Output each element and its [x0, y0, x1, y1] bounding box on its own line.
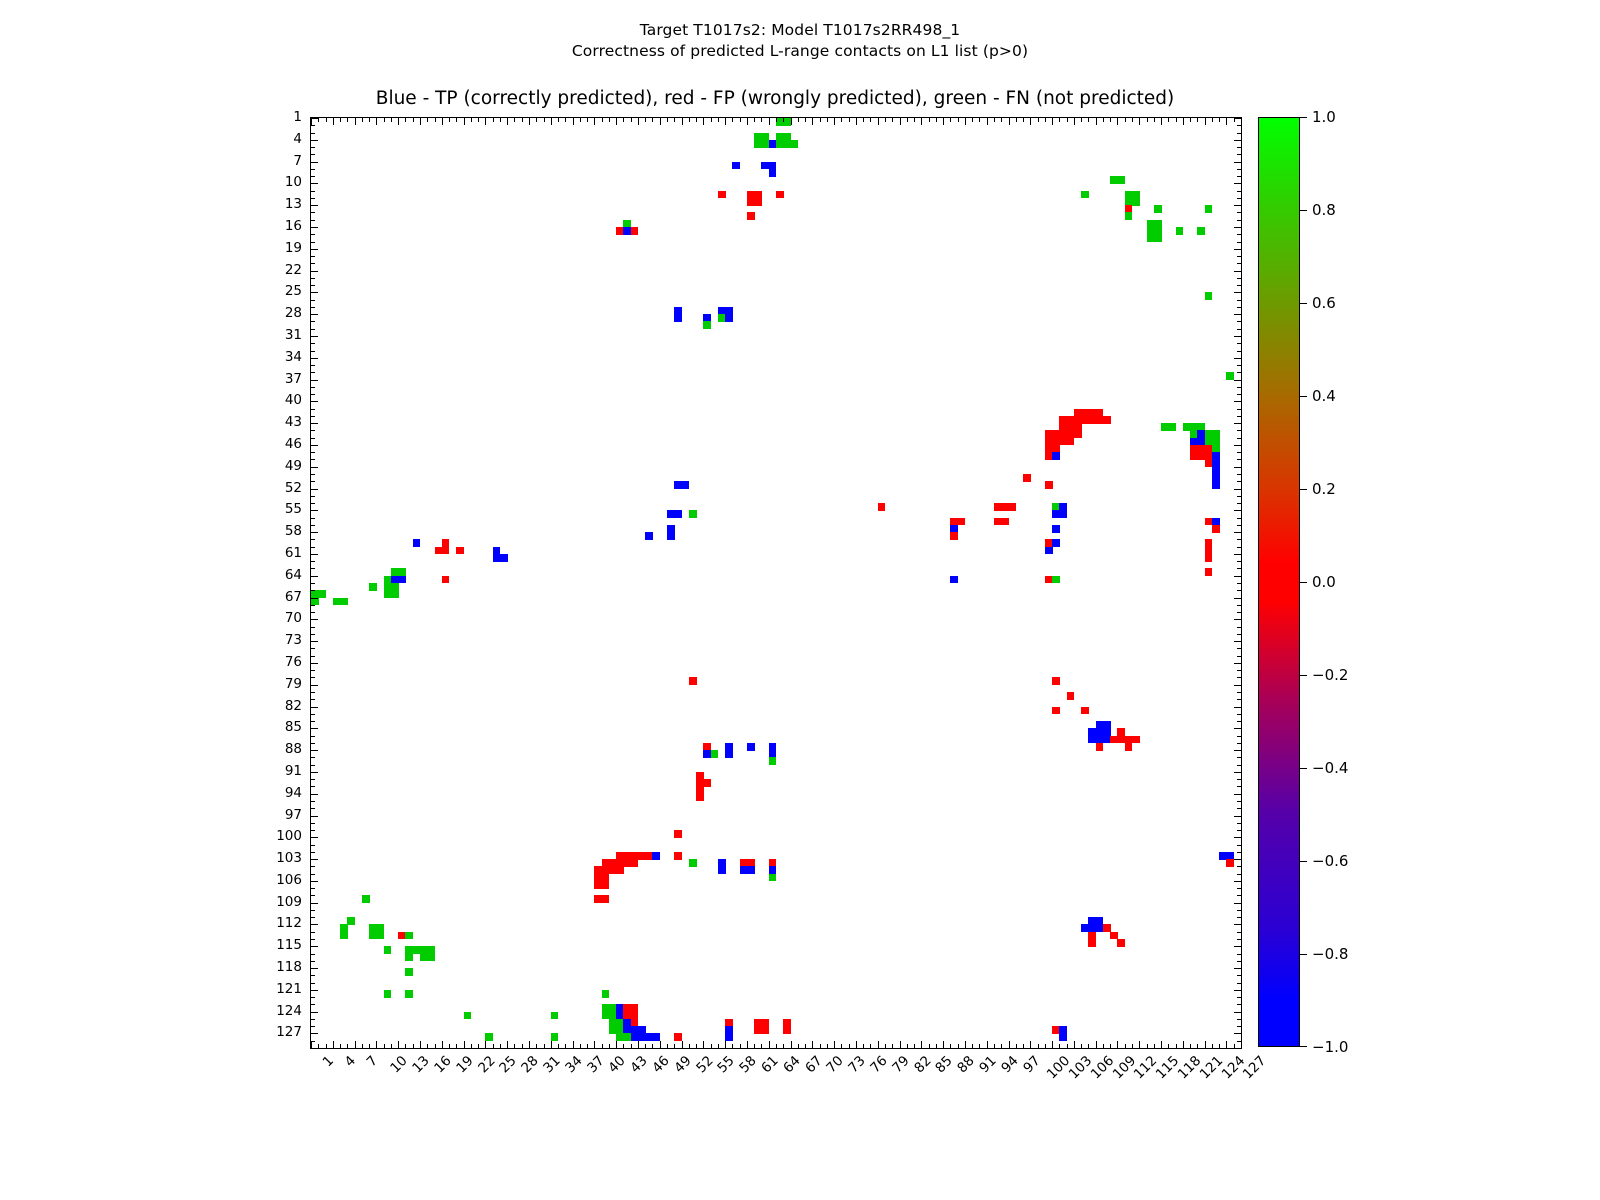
x-tick-top — [652, 118, 653, 122]
contact-cell-fn — [318, 590, 326, 598]
y-tick-right — [1237, 198, 1241, 199]
x-tick — [1117, 1041, 1118, 1048]
x-tick-top — [355, 118, 356, 125]
x-tick-top — [326, 118, 327, 122]
x-tick — [340, 1044, 341, 1048]
x-tick-top — [740, 118, 741, 122]
y-tick — [311, 205, 318, 206]
colorbar-tick — [1300, 675, 1307, 676]
colorbar-tick — [1300, 582, 1307, 583]
x-tick-label: 73 — [845, 1053, 868, 1076]
x-tick — [994, 1044, 995, 1048]
colorbar-tick — [1300, 768, 1307, 769]
contact-cell-fn — [689, 859, 697, 867]
x-tick — [936, 1044, 937, 1048]
y-tick-label: 7 — [293, 153, 302, 169]
contact-cell-fp — [1045, 481, 1053, 489]
y-tick — [311, 888, 315, 889]
title-line-1: Target T1017s2: Model T1017s2RR498_1 — [0, 20, 1600, 41]
y-tick — [311, 271, 318, 272]
x-tick — [972, 1044, 973, 1048]
x-tick-top — [478, 118, 479, 122]
y-tick-right — [1237, 409, 1241, 410]
x-tick — [827, 1044, 828, 1048]
y-tick — [311, 895, 315, 896]
x-tick-top — [1147, 118, 1148, 122]
y-tick-right — [1237, 779, 1241, 780]
x-tick-top — [551, 118, 552, 125]
x-tick — [507, 1041, 508, 1048]
y-tick-right — [1234, 837, 1241, 838]
y-tick-right — [1237, 1019, 1241, 1020]
y-tick-right — [1234, 598, 1241, 599]
y-tick — [311, 845, 315, 846]
y-tick-right — [1234, 794, 1241, 795]
y-tick-right — [1237, 242, 1241, 243]
x-tick — [841, 1044, 842, 1048]
x-tick-top — [602, 118, 603, 122]
x-tick-top — [427, 118, 428, 122]
contact-map-plot[interactable] — [310, 117, 1242, 1049]
y-tick-right — [1237, 852, 1241, 853]
x-tick-top — [936, 118, 937, 122]
y-tick — [311, 961, 315, 962]
x-tick — [1190, 1044, 1191, 1048]
x-tick-top — [507, 118, 508, 125]
x-tick — [1023, 1044, 1024, 1048]
x-tick-label: 88 — [954, 1053, 977, 1076]
colorbar-tick-label: −1.0 — [1312, 1038, 1348, 1056]
contact-cell-fn — [340, 598, 348, 606]
contact-cell-fp — [1205, 568, 1213, 576]
colorbar-tick-label: −0.4 — [1312, 759, 1348, 777]
y-tick-right — [1234, 249, 1241, 250]
contact-cell-fp — [456, 547, 464, 555]
x-tick-top — [485, 118, 486, 125]
y-tick — [311, 387, 315, 388]
y-tick-label: 37 — [285, 371, 302, 387]
y-tick — [311, 699, 315, 700]
x-tick-top — [1023, 118, 1024, 122]
x-tick-label: 13 — [409, 1053, 432, 1076]
y-tick-right — [1237, 605, 1241, 606]
x-tick — [573, 1041, 574, 1048]
y-tick-right — [1237, 910, 1241, 911]
y-tick-right — [1234, 380, 1241, 381]
x-tick — [602, 1044, 603, 1048]
x-tick-top — [972, 118, 973, 122]
y-tick-right — [1237, 677, 1241, 678]
y-tick — [311, 380, 318, 381]
contact-cell-tp — [1059, 1033, 1067, 1041]
y-tick-label: 28 — [285, 305, 302, 321]
y-tick-right — [1234, 162, 1241, 163]
y-tick — [311, 852, 315, 853]
y-tick — [311, 561, 315, 562]
y-tick-right — [1237, 895, 1241, 896]
y-tick-right — [1234, 401, 1241, 402]
y-tick — [311, 874, 315, 875]
y-tick — [311, 510, 318, 511]
y-tick-label: 46 — [285, 436, 302, 452]
y-tick-right — [1237, 612, 1241, 613]
contact-cell-fn — [1205, 205, 1213, 213]
x-tick-top — [1103, 118, 1104, 122]
x-tick — [1161, 1041, 1162, 1048]
x-tick — [1197, 1044, 1198, 1048]
contact-cell-tp — [950, 576, 958, 584]
y-tick-right — [1237, 808, 1241, 809]
y-tick-right — [1234, 118, 1241, 119]
contact-cell-fn — [1132, 198, 1140, 206]
x-tick — [1176, 1044, 1177, 1048]
y-tick-label: 121 — [276, 981, 302, 997]
y-tick — [311, 707, 318, 708]
x-tick-top — [776, 118, 777, 122]
y-tick — [311, 133, 315, 134]
colorbar-tick — [1300, 1046, 1307, 1047]
y-tick-right — [1234, 903, 1241, 904]
y-tick — [311, 278, 315, 279]
y-tick-right — [1237, 125, 1241, 126]
contact-cell-fp — [1052, 707, 1060, 715]
y-tick-right — [1237, 474, 1241, 475]
y-tick-right — [1237, 234, 1241, 235]
contact-cell-tp — [732, 162, 740, 170]
contact-cell-fp — [783, 1026, 791, 1034]
y-tick-label: 49 — [285, 458, 302, 474]
y-tick — [311, 917, 315, 918]
x-tick — [1038, 1044, 1039, 1048]
y-axis-labels: 1471013161922252831343740434649525558616… — [240, 117, 302, 1047]
contact-cell-fp — [1052, 677, 1060, 685]
x-tick — [311, 1041, 312, 1048]
x-tick-top — [950, 118, 951, 122]
colorbar-tick — [1300, 396, 1307, 397]
x-tick-top — [958, 118, 959, 122]
contact-cell-fp — [674, 830, 682, 838]
x-tick-label: 7 — [363, 1053, 380, 1070]
x-tick-top — [340, 118, 341, 122]
x-tick — [522, 1044, 523, 1048]
y-tick — [311, 547, 315, 548]
x-tick-top — [812, 118, 813, 125]
y-tick-label: 97 — [285, 807, 302, 823]
x-tick-top — [500, 118, 501, 122]
y-tick-right — [1237, 714, 1241, 715]
x-tick-label: 127 — [1240, 1053, 1270, 1083]
x-tick — [623, 1044, 624, 1048]
y-tick — [311, 459, 315, 460]
x-tick — [1212, 1044, 1213, 1048]
x-tick — [1001, 1044, 1002, 1048]
y-tick-label: 10 — [285, 174, 302, 190]
y-tick-label: 58 — [285, 523, 302, 539]
x-tick-top — [536, 118, 537, 122]
contact-cell-tp — [652, 852, 660, 860]
y-tick-right — [1237, 757, 1241, 758]
contact-cell-fp — [631, 859, 639, 867]
y-tick-right — [1234, 728, 1241, 729]
x-tick — [834, 1041, 835, 1048]
y-tick-right — [1237, 285, 1241, 286]
x-tick — [660, 1041, 661, 1048]
contact-cell-fp — [631, 227, 639, 235]
y-tick-right — [1234, 1033, 1241, 1034]
y-tick — [311, 445, 318, 446]
contact-cell-fp — [1132, 736, 1140, 744]
y-tick-right — [1234, 554, 1241, 555]
y-tick-right — [1237, 997, 1241, 998]
x-tick — [1234, 1044, 1235, 1048]
y-tick-right — [1237, 372, 1241, 373]
y-tick-right — [1234, 924, 1241, 925]
contact-map-cells — [311, 118, 1241, 1048]
x-tick-label: 4 — [341, 1053, 358, 1070]
y-tick — [311, 627, 315, 628]
x-tick-label: 34 — [562, 1053, 585, 1076]
x-tick-label: 94 — [998, 1053, 1021, 1076]
contact-cell-tp — [1052, 452, 1060, 460]
x-tick — [703, 1041, 704, 1048]
y-tick-label: 70 — [285, 610, 302, 626]
y-tick-right — [1237, 975, 1241, 976]
contact-cell-fn — [384, 990, 392, 998]
x-tick — [914, 1044, 915, 1048]
contact-cell-fn — [551, 1033, 559, 1041]
x-tick — [558, 1044, 559, 1048]
x-tick — [1103, 1044, 1104, 1048]
y-tick — [311, 576, 318, 577]
y-tick-right — [1237, 1026, 1241, 1027]
y-tick-right — [1234, 707, 1241, 708]
x-tick — [1030, 1041, 1031, 1048]
colorbar[interactable]: 1.00.80.60.40.20.0−0.2−0.4−0.6−0.8−1.0 — [1258, 117, 1300, 1047]
contact-cell-fp — [1009, 503, 1017, 511]
y-tick — [311, 249, 318, 250]
y-tick-right — [1237, 845, 1241, 846]
x-tick-top — [1226, 118, 1227, 125]
y-tick — [311, 321, 315, 322]
y-tick-label: 85 — [285, 719, 302, 735]
y-tick-right — [1234, 467, 1241, 468]
y-tick — [311, 598, 318, 599]
y-tick-right — [1237, 191, 1241, 192]
y-tick-right — [1237, 321, 1241, 322]
y-tick — [311, 140, 318, 141]
x-tick-top — [732, 118, 733, 122]
colorbar-tick-label: 0.0 — [1312, 573, 1336, 591]
y-tick-label: 1 — [293, 109, 302, 125]
x-tick — [369, 1044, 370, 1048]
x-tick — [1168, 1044, 1169, 1048]
x-tick-top — [1096, 118, 1097, 125]
contact-cell-fn — [1197, 227, 1205, 235]
y-tick — [311, 1026, 315, 1027]
contact-cell-fn — [376, 932, 384, 940]
x-tick — [471, 1044, 472, 1048]
y-tick — [311, 1012, 318, 1013]
y-tick-right — [1237, 648, 1241, 649]
contact-cell-fn — [391, 590, 399, 598]
y-tick-label: 73 — [285, 632, 302, 648]
x-tick — [1183, 1041, 1184, 1048]
y-tick-label: 61 — [285, 545, 302, 561]
x-tick — [1226, 1041, 1227, 1048]
contact-cell-fn — [602, 990, 610, 998]
y-tick — [311, 779, 315, 780]
y-tick-right — [1237, 459, 1241, 460]
y-tick-right — [1234, 183, 1241, 184]
y-tick-right — [1237, 634, 1241, 635]
contact-cell-fn — [405, 968, 413, 976]
y-tick-right — [1234, 510, 1241, 511]
y-tick-label: 52 — [285, 480, 302, 496]
x-tick — [398, 1041, 399, 1048]
x-tick-top — [1125, 118, 1126, 122]
x-tick-top — [929, 118, 930, 122]
x-tick — [805, 1044, 806, 1048]
y-tick — [311, 227, 318, 228]
y-tick-label: 67 — [285, 589, 302, 605]
x-tick-top — [761, 118, 762, 122]
y-tick-right — [1234, 1012, 1241, 1013]
x-tick-label: 16 — [431, 1053, 454, 1076]
y-tick — [311, 496, 315, 497]
x-tick-top — [1030, 118, 1031, 125]
x-tick — [355, 1041, 356, 1048]
x-tick-top — [1052, 118, 1053, 125]
contact-cell-tp — [718, 866, 726, 874]
y-tick-label: 88 — [285, 741, 302, 757]
x-tick-top — [1074, 118, 1075, 125]
y-tick — [311, 394, 315, 395]
y-tick-right — [1234, 140, 1241, 141]
x-tick-top — [522, 118, 523, 122]
contact-cell-fn — [769, 874, 777, 882]
x-tick-top — [754, 118, 755, 122]
y-tick-right — [1234, 445, 1241, 446]
x-tick — [812, 1041, 813, 1048]
x-tick-top — [849, 118, 850, 122]
x-tick — [529, 1041, 530, 1048]
contact-cell-fp — [878, 503, 886, 511]
x-tick-label: 58 — [736, 1053, 759, 1076]
y-tick-right — [1237, 866, 1241, 867]
x-tick-top — [914, 118, 915, 122]
x-tick-label: 10 — [388, 1053, 411, 1076]
y-tick-right — [1237, 1004, 1241, 1005]
y-tick-right — [1237, 307, 1241, 308]
y-tick-label: 100 — [276, 828, 302, 844]
x-tick-top — [558, 118, 559, 122]
y-tick-right — [1234, 881, 1241, 882]
x-tick-label: 64 — [780, 1053, 803, 1076]
y-tick — [311, 292, 318, 293]
x-tick — [667, 1044, 668, 1048]
y-tick — [311, 619, 318, 620]
x-tick-top — [878, 118, 879, 125]
x-tick — [820, 1044, 821, 1048]
x-tick-top — [471, 118, 472, 122]
y-tick — [311, 714, 315, 715]
y-tick-right — [1234, 205, 1241, 206]
y-tick — [311, 169, 315, 170]
y-tick-right — [1234, 946, 1241, 947]
y-tick — [311, 118, 318, 119]
x-tick-label: 55 — [715, 1053, 738, 1076]
contact-cell-fp — [1074, 430, 1082, 438]
x-tick — [609, 1044, 610, 1048]
y-tick — [311, 147, 315, 148]
contact-cell-fp — [747, 212, 755, 220]
x-tick-top — [347, 118, 348, 122]
x-tick — [514, 1044, 515, 1048]
y-tick — [311, 728, 318, 729]
x-tick — [362, 1044, 363, 1048]
x-tick — [1067, 1044, 1068, 1048]
contact-cell-fn — [405, 954, 413, 962]
x-tick — [943, 1041, 944, 1048]
x-tick-top — [391, 118, 392, 122]
y-tick-label: 94 — [285, 785, 302, 801]
x-tick — [1074, 1041, 1075, 1048]
x-tick-top — [544, 118, 545, 122]
x-tick-top — [892, 118, 893, 122]
y-tick-right — [1237, 547, 1241, 548]
x-tick — [456, 1044, 457, 1048]
y-tick-right — [1237, 452, 1241, 453]
x-tick-top — [798, 118, 799, 122]
x-tick — [427, 1044, 428, 1048]
contact-cell-fn — [1154, 234, 1162, 242]
x-tick-top — [362, 118, 363, 122]
y-tick-right — [1237, 670, 1241, 671]
x-tick — [878, 1041, 879, 1048]
x-tick-top — [834, 118, 835, 125]
y-tick-right — [1234, 292, 1241, 293]
contact-cell-fp — [689, 677, 697, 685]
x-tick — [776, 1044, 777, 1048]
y-tick — [311, 438, 315, 439]
x-tick-top — [456, 118, 457, 122]
y-tick — [311, 220, 315, 221]
y-tick-right — [1237, 627, 1241, 628]
x-tick-top — [420, 118, 421, 125]
contact-cell-fn — [1154, 205, 1162, 213]
x-tick-top — [1197, 118, 1198, 122]
x-tick — [1154, 1044, 1155, 1048]
x-tick-top — [1154, 118, 1155, 122]
x-tick-top — [1161, 118, 1162, 125]
x-tick — [849, 1044, 850, 1048]
y-tick — [311, 532, 318, 533]
contact-cell-fp — [958, 518, 966, 526]
x-tick-top — [645, 118, 646, 122]
x-tick — [1139, 1041, 1140, 1048]
y-tick — [311, 750, 318, 751]
y-tick — [311, 351, 315, 352]
x-tick — [674, 1044, 675, 1048]
y-tick-label: 64 — [285, 567, 302, 583]
y-tick — [311, 401, 318, 402]
title-line-2: Correctness of predicted L-range contact… — [0, 41, 1600, 62]
x-tick-top — [885, 118, 886, 122]
contact-cell-fp — [1023, 474, 1031, 482]
contact-cell-fn — [464, 1012, 472, 1020]
contact-cell-tp — [682, 481, 690, 489]
x-tick — [718, 1044, 719, 1048]
